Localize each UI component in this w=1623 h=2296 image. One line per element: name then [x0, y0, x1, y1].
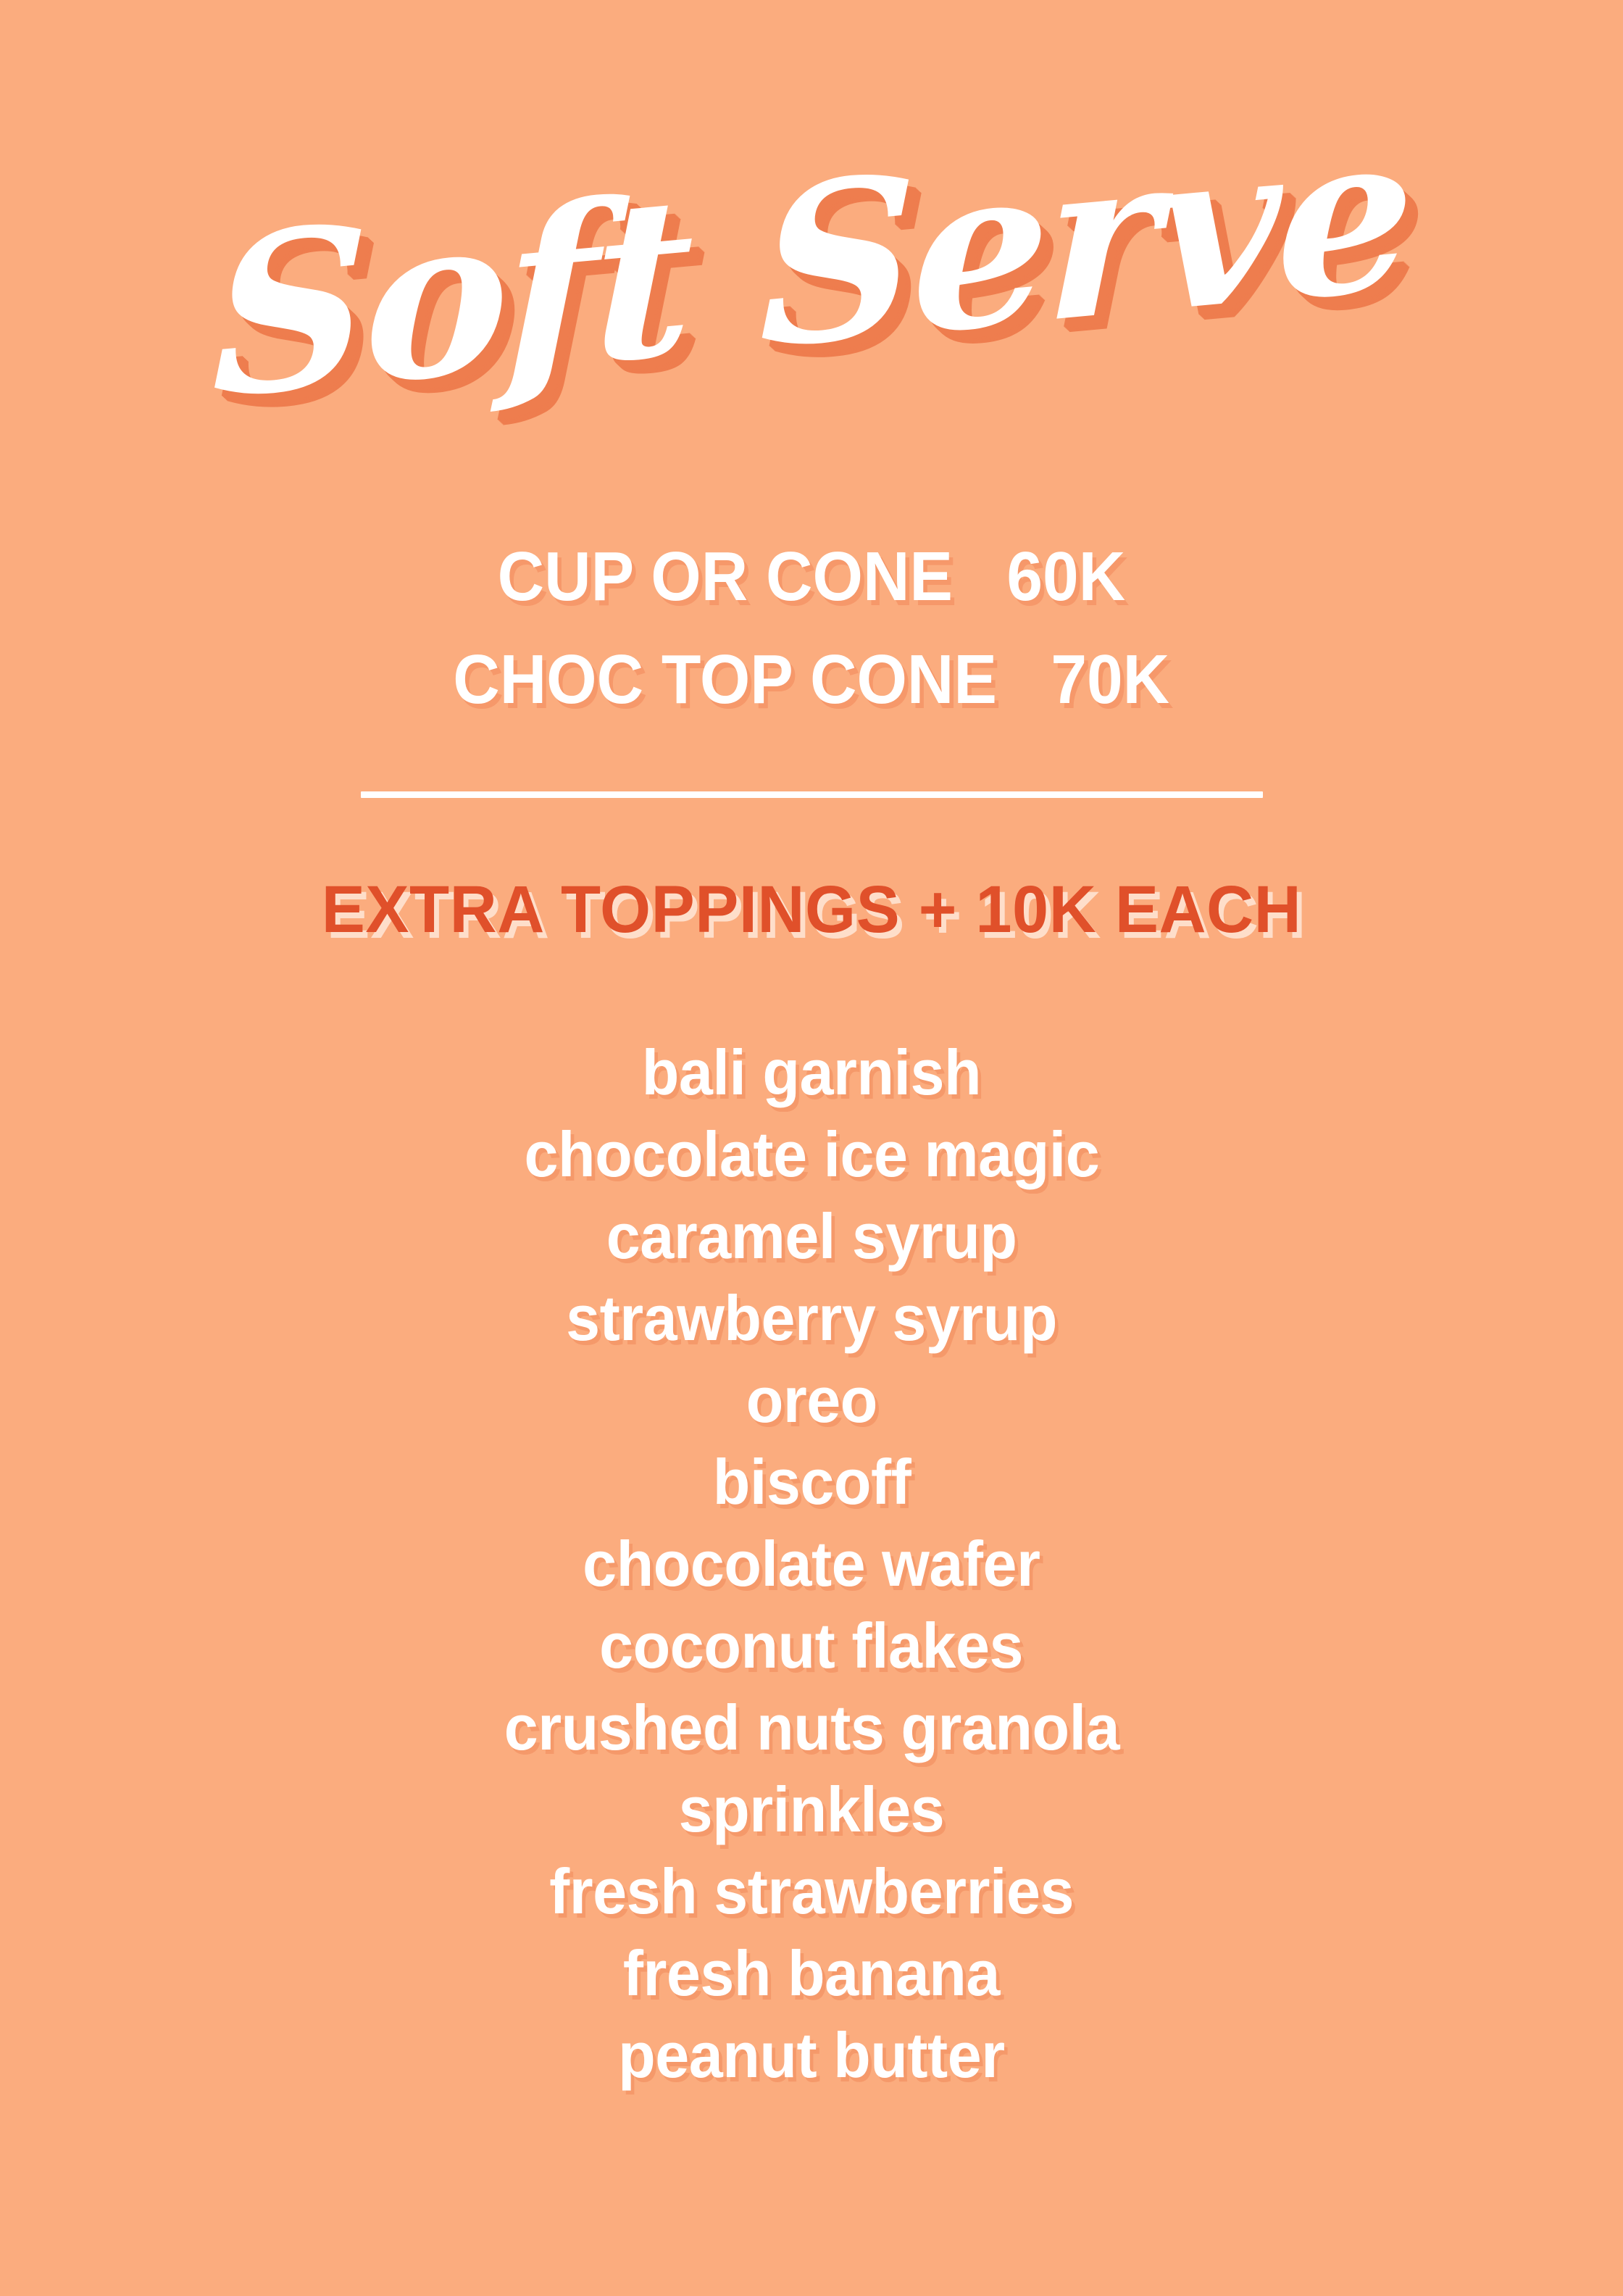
toppings-heading: EXTRA TOPPINGS + 10K EACH [322, 876, 1301, 943]
menu-poster: Soft Serve CUP OR CONE 60K CHOC TOP CONE… [0, 0, 1623, 2296]
title-block: Soft Serve [0, 109, 1623, 420]
topping-item: biscoff [712, 1441, 911, 1523]
topping-item: strawberry syrup [566, 1277, 1057, 1359]
divider-container [0, 791, 1623, 798]
toppings-list: bali garnish chocolate ice magic caramel… [0, 1031, 1623, 2096]
topping-item: chocolate ice magic [524, 1113, 1099, 1195]
page-title: Soft Serve [212, 101, 1412, 428]
topping-item: fresh banana [623, 1932, 1000, 2014]
topping-item: caramel syrup [606, 1195, 1017, 1277]
topping-item: coconut flakes [600, 1605, 1024, 1686]
topping-item: crushed nuts granola [504, 1686, 1119, 1768]
price-row-choc-top-cone: CHOC TOP CONE 70K [454, 628, 1170, 731]
topping-item: bali garnish [642, 1031, 981, 1113]
topping-item: oreo [746, 1359, 877, 1441]
price-list: CUP OR CONE 60K CHOC TOP CONE 70K [0, 525, 1623, 731]
topping-item: sprinkles [679, 1768, 945, 1850]
topping-item: chocolate wafer [583, 1523, 1040, 1605]
price-row-cup-or-cone: CUP OR CONE 60K [498, 525, 1126, 628]
section-divider [361, 791, 1263, 798]
topping-item: fresh strawberries [549, 1850, 1074, 1932]
topping-item: peanut butter [618, 2014, 1004, 2096]
